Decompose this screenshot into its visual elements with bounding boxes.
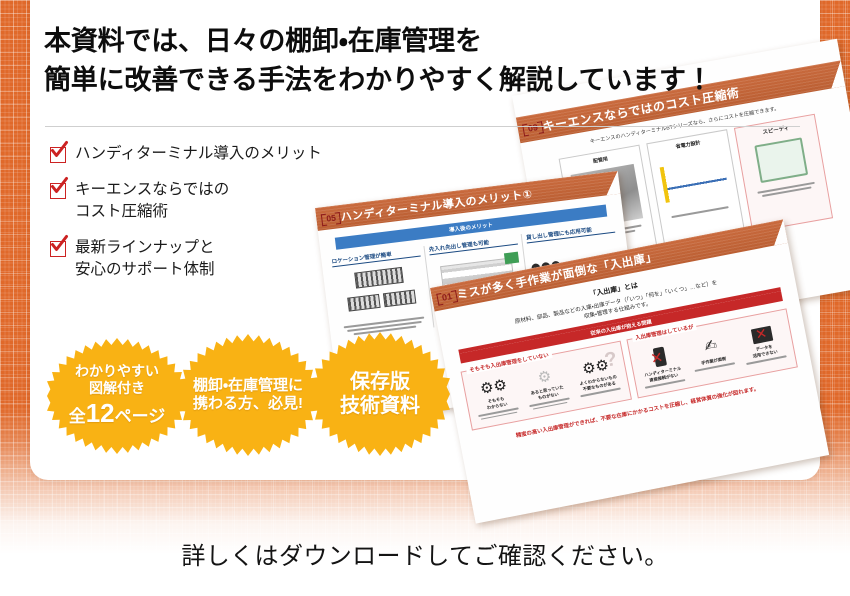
- slide-09-panel-3-caption: スピーディ: [740, 120, 812, 140]
- badge-line-1: 棚卸・在庫管理に: [193, 377, 303, 395]
- feature-checklist: ハンディターミナル導入のメリット キーエンスならではの コスト圧縮術 最新ライン…: [50, 143, 350, 295]
- badge-line-3-pre: 全: [69, 407, 86, 426]
- badge-line-3-post: ページ: [115, 407, 166, 426]
- checklist-item-1: ハンディターミナル導入のメリット: [50, 143, 350, 165]
- shelf-diagram: [354, 267, 404, 289]
- checkbox-checked-icon: [50, 241, 66, 257]
- slide-09-panel-2-caption: 省電力設計: [652, 135, 724, 154]
- panel-text-line: [671, 206, 728, 218]
- panel-chart-placeholder: [660, 156, 729, 203]
- badge-line-3: 全12ページ: [69, 398, 166, 429]
- slide-09-panel-3: スピーディ: [734, 114, 833, 233]
- server-icon: [503, 252, 518, 265]
- checkbox-checked-icon: [50, 147, 66, 163]
- shelf-diagram: [347, 294, 380, 312]
- cta-text: 詳しくはダウンロードしてご確認ください。: [0, 536, 850, 571]
- headline-divider: [45, 126, 800, 127]
- badge-page-count-text: わかりやすい 図解付き 全12ページ: [69, 363, 166, 429]
- badge-page-number: 12: [86, 398, 115, 428]
- badge-line-2: 携わる方、必見!: [193, 395, 303, 413]
- checkbox-checked-icon: [50, 183, 66, 199]
- badge-archive-edition-text: 保存版 技術資料: [340, 370, 420, 418]
- computer-crossed-icon: ✕: [750, 326, 772, 345]
- checklist-item-2: キーエンスならではの コスト圧縮術: [50, 179, 350, 223]
- badge-line-1: わかりやすい: [69, 363, 166, 380]
- badge-target-audience-text: 棚卸・在庫管理に 携わる方、必見!: [193, 377, 303, 413]
- checklist-item-label: キーエンスならではの コスト圧縮術: [75, 179, 229, 223]
- slide-05-column-3-heading: 貸し出し管理にも応用可能: [526, 223, 616, 244]
- panel-monitor-icon: [754, 137, 808, 183]
- slide-01-number: 01: [441, 291, 453, 303]
- badge-line-1: 保存版: [340, 370, 420, 394]
- slide-09-number: 09: [527, 122, 539, 134]
- page-headline: 本資料では、日々の棚卸・在庫管理を 簡単に改善できる手法をわかりやすく解説してい…: [44, 22, 764, 100]
- handheld-terminal-crossed-icon: ✕: [653, 347, 667, 368]
- badge-line-2: 図解付き: [69, 380, 166, 397]
- checklist-item-label: 最新ラインナップと 安心のサポート体制: [75, 237, 215, 281]
- checklist-item-3: 最新ラインナップと 安心のサポート体制: [50, 237, 350, 281]
- checklist-item-label: ハンディターミナル導入のメリット: [75, 143, 322, 165]
- shelf-diagram: [382, 290, 415, 308]
- badge-line-2: 技術資料: [340, 394, 420, 418]
